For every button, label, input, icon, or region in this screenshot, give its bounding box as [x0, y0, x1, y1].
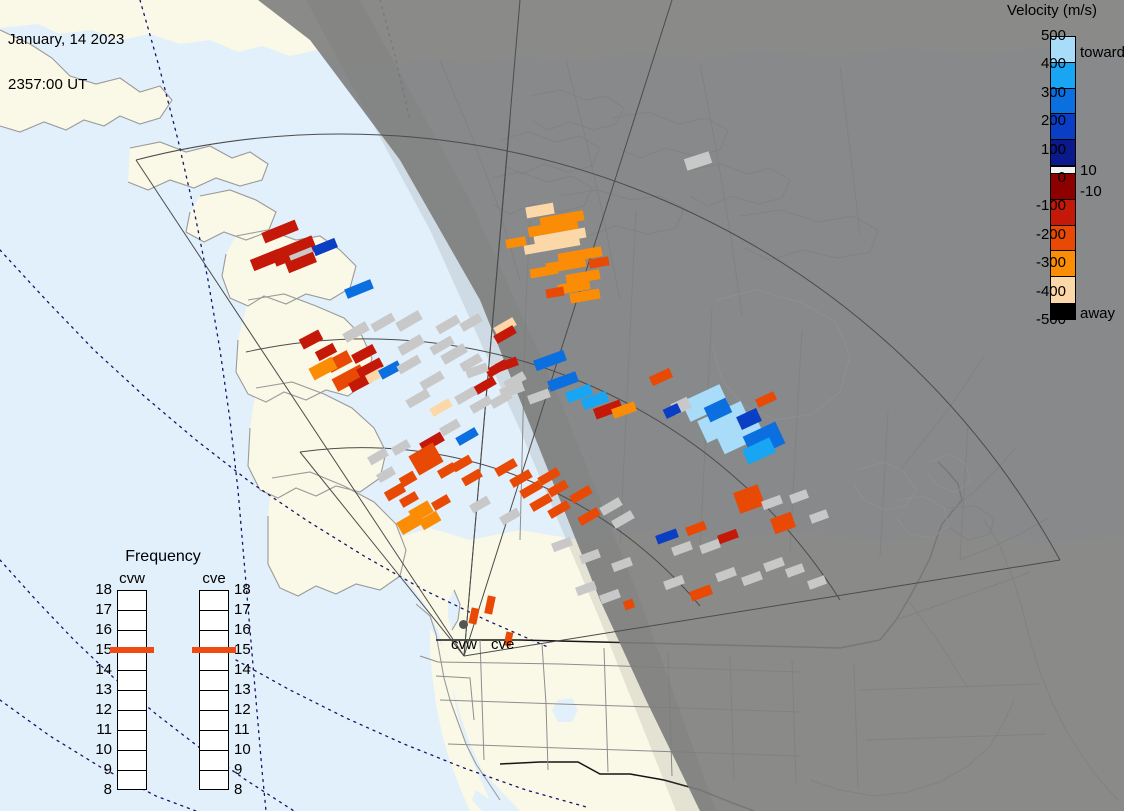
velocity-cell	[308, 357, 337, 381]
frequency-cell	[118, 711, 146, 731]
colorbar-tick-label: 200	[1041, 115, 1066, 127]
frequency-cell	[118, 651, 146, 671]
velocity-cell	[741, 571, 763, 586]
frequency-tick-label: 11	[234, 725, 250, 735]
velocity-cell	[569, 485, 593, 504]
velocity-cell	[454, 386, 478, 405]
frequency-cell	[118, 611, 146, 631]
velocity-cell	[469, 496, 491, 514]
velocity-cell	[397, 334, 425, 356]
frequency-tick-label: 14	[234, 665, 251, 675]
velocity-cell	[469, 395, 493, 414]
velocity-cell	[429, 398, 453, 417]
frequency-cell	[200, 591, 228, 611]
frequency-cell	[118, 771, 146, 791]
frequency-legend: Frequency cvw18171615141312111098cve1817…	[88, 548, 238, 788]
frequency-tick-label: 13	[234, 685, 251, 695]
velocity-cell	[484, 595, 496, 614]
colorbar-tick-label: 0	[1058, 172, 1066, 184]
colorbar-inner-pos-label: 10	[1080, 165, 1097, 177]
velocity-cell	[579, 549, 601, 564]
frequency-tick-label: 8	[94, 785, 112, 795]
velocity-cell	[509, 469, 533, 488]
velocity-cell	[699, 539, 721, 554]
velocity-cell	[468, 607, 479, 624]
frequency-tick-label: 16	[94, 625, 112, 635]
velocity-cell	[435, 315, 460, 335]
velocity-cell	[623, 599, 635, 611]
frequency-cell	[200, 611, 228, 631]
colorbar-toward-label: toward	[1080, 47, 1124, 59]
velocity-cell	[344, 279, 374, 299]
velocity-cell	[376, 466, 396, 483]
frequency-tick-label: 10	[234, 745, 251, 755]
velocity-cell	[396, 355, 421, 375]
frequency-tick-label: 11	[94, 725, 112, 735]
velocity-cell	[495, 357, 519, 373]
velocity-cell	[655, 529, 679, 545]
velocity-cell	[439, 419, 461, 437]
velocity-cell	[529, 265, 558, 279]
velocity-cell	[455, 427, 479, 446]
velocity-cell	[575, 581, 597, 596]
frequency-cell	[200, 711, 228, 731]
velocity-cell	[599, 497, 623, 516]
frequency-cell	[118, 751, 146, 771]
timestamp: January, 14 2023 2357:00 UT	[8, 2, 124, 122]
velocity-cell	[685, 521, 707, 536]
colorbar-tick-label: -400	[1036, 286, 1066, 298]
frequency-tick-label: 10	[94, 745, 112, 755]
frequency-legend-title: Frequency	[88, 548, 238, 566]
colorbar-tick-label: -500	[1036, 314, 1066, 326]
frequency-tick-label: 9	[234, 765, 242, 775]
velocity-cell	[533, 350, 567, 371]
velocity-cell	[395, 310, 423, 332]
frequency-tick-label: 13	[94, 685, 112, 695]
frequency-tick-label: 9	[94, 765, 112, 775]
frequency-tick-label: 8	[234, 785, 242, 795]
velocity-cell	[588, 256, 609, 268]
station-label-cve: cve	[491, 636, 514, 653]
velocity-cell	[473, 376, 497, 395]
velocity-cell	[809, 509, 829, 524]
frequency-cell	[118, 731, 146, 751]
velocity-cell	[663, 575, 685, 590]
velocity-cell	[431, 494, 451, 511]
velocity-cell	[494, 458, 518, 477]
velocity-cell	[545, 287, 564, 299]
velocity-cell	[770, 512, 796, 535]
frequency-cell	[118, 691, 146, 711]
velocity-cell	[611, 557, 633, 572]
frequency-bar	[199, 590, 229, 790]
velocity-cell	[755, 391, 777, 408]
velocity-cell	[519, 480, 543, 499]
colorbar-tick-label: -200	[1036, 229, 1066, 241]
frequency-cell	[118, 591, 146, 611]
velocity-cell	[419, 371, 444, 391]
velocity-cell	[299, 329, 324, 349]
frequency-tick-label: 14	[94, 665, 112, 675]
frequency-tick-label: 18	[234, 585, 251, 595]
velocity-cell	[649, 368, 673, 386]
velocity-cell	[551, 537, 573, 552]
velocity-cell	[391, 439, 411, 456]
velocity-cell	[599, 589, 621, 604]
velocity-cell	[342, 321, 370, 343]
colorbar-tick-label: 100	[1041, 144, 1066, 156]
velocity-cell	[367, 448, 389, 466]
velocity-cell	[547, 500, 571, 519]
velocity-cell	[527, 389, 551, 405]
frequency-tick-label: 18	[94, 585, 112, 595]
velocity-cell	[312, 238, 338, 256]
velocity-cell	[733, 484, 765, 514]
frequency-tick-label: 16	[234, 625, 251, 635]
station-label-cvw: cvw	[451, 636, 477, 653]
colorbar-away-label: away	[1080, 308, 1115, 320]
velocity-cell	[785, 563, 805, 578]
velocity-cell	[715, 567, 737, 582]
colorbar-tick-label: -100	[1036, 200, 1066, 212]
velocity-cell	[577, 507, 601, 526]
velocity-cell	[789, 489, 809, 504]
timestamp-time: 2357:00 UT	[8, 77, 124, 92]
radar-velocity-map: cvw cve January, 14 2023 2357:00 UT Velo…	[0, 0, 1124, 811]
velocity-cell	[547, 480, 569, 498]
frequency-cell	[200, 671, 228, 691]
velocity-cell	[807, 575, 827, 590]
velocity-cell	[537, 467, 561, 486]
velocity-cell	[250, 249, 282, 271]
velocity-cell	[459, 313, 483, 332]
velocity-cell	[505, 236, 526, 248]
velocity-cell	[763, 557, 785, 572]
frequency-marker	[110, 647, 154, 653]
frequency-cell	[200, 771, 228, 791]
colorbar-tick-label: 500	[1041, 30, 1066, 42]
velocity-colorbar: Velocity (m/s) 5004003002001000-100-200-…	[980, 0, 1124, 330]
frequency-cell	[118, 671, 146, 691]
velocity-cell	[529, 493, 553, 512]
frequency-cell	[200, 691, 228, 711]
frequency-tick-label: 15	[234, 645, 251, 655]
frequency-tick-label: 17	[234, 605, 251, 615]
frequency-bar	[117, 590, 147, 790]
velocity-cell	[717, 529, 739, 544]
velocity-cell	[405, 389, 430, 409]
frequency-tick-label: 12	[234, 705, 251, 715]
velocity-cell	[461, 469, 483, 487]
frequency-marker	[192, 647, 236, 653]
velocity-cell	[547, 371, 579, 392]
velocity-cell	[611, 510, 635, 529]
velocity-cell	[761, 495, 783, 510]
colorbar-tick-label: 300	[1041, 87, 1066, 99]
frequency-tick-label: 17	[94, 605, 112, 615]
velocity-cell	[671, 541, 693, 556]
frequency-cell	[200, 731, 228, 751]
colorbar-inner-neg-label: -10	[1080, 186, 1102, 198]
colorbar-tick-label: 400	[1041, 58, 1066, 70]
frequency-tick-label: 12	[94, 705, 112, 715]
velocity-cell	[370, 313, 395, 333]
velocity-cell	[689, 585, 713, 602]
colorbar-title: Velocity (m/s)	[982, 2, 1122, 19]
radar-site-marker	[459, 620, 468, 629]
velocity-cell	[684, 151, 712, 170]
frequency-cell	[200, 651, 228, 671]
timestamp-date: January, 14 2023	[8, 32, 124, 47]
velocity-cell	[261, 220, 298, 244]
frequency-cell	[200, 751, 228, 771]
colorbar-tick-label: -300	[1036, 257, 1066, 269]
velocity-cell	[499, 508, 521, 526]
